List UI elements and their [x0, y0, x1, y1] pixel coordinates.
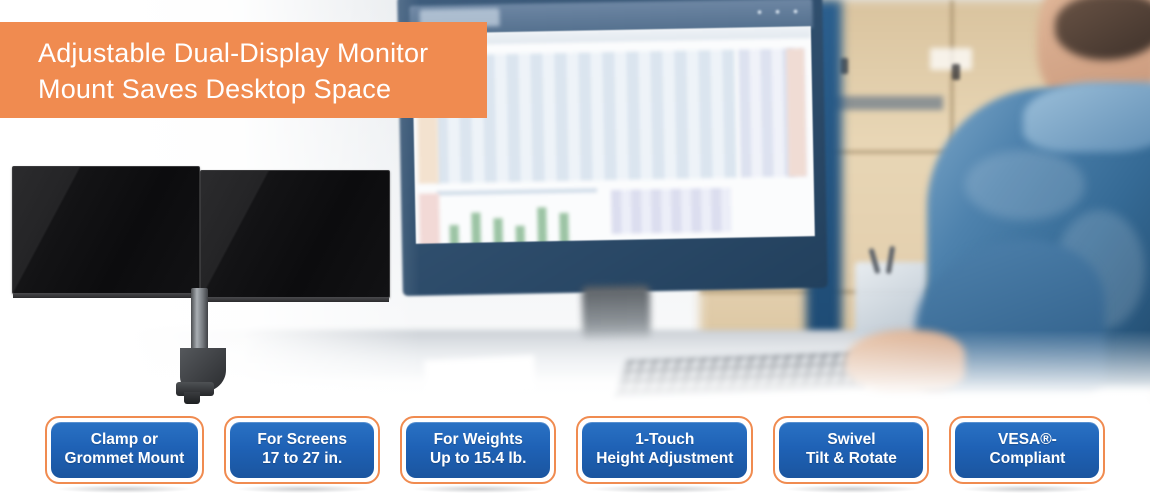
shirt-fold	[965, 150, 1085, 220]
chart-red-column	[419, 193, 440, 243]
badge-line-1: VESA®-	[969, 431, 1085, 450]
chart-panel	[437, 188, 597, 195]
badge-shadow	[237, 485, 368, 493]
feature-badge-height-adjustment[interactable]: 1-Touch Height Adjustment	[576, 416, 753, 484]
page-title: Adjustable Dual-Display Monitor Mount Sa…	[0, 22, 487, 108]
badge-body: Clamp or Grommet Mount	[51, 422, 199, 478]
badge-border: Swivel Tilt & Rotate	[773, 416, 929, 484]
feature-badge-screen-size[interactable]: For Screens 17 to 27 in.	[224, 416, 380, 484]
badge-line-2: Grommet Mount	[65, 450, 185, 469]
badge-body: Swivel Tilt & Rotate	[779, 422, 923, 478]
badge-border: For Weights Up to 15.4 lb.	[400, 416, 556, 484]
mount-desk-clamp	[184, 392, 200, 404]
feature-badge-weight-capacity[interactable]: For Weights Up to 15.4 lb.	[400, 416, 556, 484]
chart-side-table	[611, 188, 732, 234]
badge-body: 1-Touch Height Adjustment	[582, 422, 747, 478]
monitor-chin	[201, 297, 389, 302]
badge-line-2: Tilt & Rotate	[793, 450, 909, 469]
headline-banner: Adjustable Dual-Display Monitor Mount Sa…	[0, 22, 487, 118]
badge-shadow	[590, 485, 739, 493]
product-banner-ad: Adjustable Dual-Display Monitor Mount Sa…	[0, 0, 1150, 500]
person-beard	[1055, 0, 1150, 60]
chart-bar	[559, 213, 569, 244]
badge-line-1: For Weights	[420, 431, 536, 450]
chart-bar	[516, 226, 525, 244]
badge-line-2: Up to 15.4 lb.	[420, 450, 536, 469]
badge-body: VESA®- Compliant	[955, 422, 1099, 478]
badge-shadow	[413, 485, 544, 493]
monitor-screen-right	[200, 170, 390, 298]
badge-line-1: For Screens	[244, 431, 360, 450]
badge-line-1: Swivel	[793, 431, 909, 450]
person-collar	[1023, 82, 1150, 152]
badge-shadow	[962, 485, 1093, 493]
spreadsheet-accent-column	[786, 48, 806, 176]
feature-badge-mount-type[interactable]: Clamp or Grommet Mount	[45, 416, 205, 484]
badge-border: For Screens 17 to 27 in.	[224, 416, 380, 484]
badge-border: 1-Touch Height Adjustment	[576, 416, 753, 484]
feature-badge-motion[interactable]: Swivel Tilt & Rotate	[773, 416, 929, 484]
feature-badge-vesa-compliance[interactable]: VESA®- Compliant	[949, 416, 1105, 484]
badge-shadow	[786, 485, 917, 493]
window-controls	[756, 8, 800, 15]
chart-bar	[471, 213, 481, 244]
badge-line-2: Compliant	[969, 450, 1085, 469]
badge-shadow	[57, 485, 191, 493]
monitor-chin	[13, 293, 199, 298]
chart-bar	[450, 225, 459, 244]
badge-line-2: 17 to 27 in.	[244, 450, 360, 469]
headline-line-2: Mount Saves Desktop Space	[38, 74, 391, 104]
badge-body: For Screens 17 to 27 in.	[230, 422, 374, 478]
badge-border: VESA®- Compliant	[949, 416, 1105, 484]
headline-line-1: Adjustable Dual-Display Monitor	[38, 38, 428, 68]
badge-body: For Weights Up to 15.4 lb.	[406, 422, 550, 478]
product-image-dual-monitor-mount	[8, 160, 388, 400]
badge-line-1: Clamp or	[65, 431, 185, 450]
monitor-screen-left	[12, 166, 200, 294]
badge-border: Clamp or Grommet Mount	[45, 416, 205, 484]
badge-line-1: 1-Touch	[596, 431, 733, 450]
badge-line-2: Height Adjustment	[596, 450, 733, 469]
chart-bar	[537, 207, 547, 244]
chart-bar	[493, 218, 503, 244]
feature-badge-row: Clamp or Grommet Mount For Screens 17 to…	[0, 416, 1150, 500]
